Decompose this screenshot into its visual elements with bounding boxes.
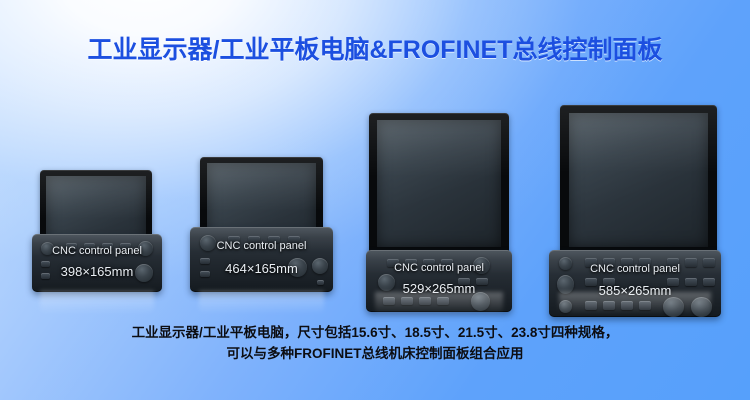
panel-knob-2b[interactable] xyxy=(288,258,307,277)
panel-button-4i[interactable] xyxy=(603,278,615,286)
panel-button-1d[interactable] xyxy=(120,243,131,250)
panel-button-2b[interactable] xyxy=(248,236,260,243)
footer-line-2: 可以与多种FROFINET总线机床控制面板组合应用 xyxy=(0,343,750,364)
device-card-1[interactable]: CNC control panel 398×165mm xyxy=(32,170,162,292)
monitor-bezel-3 xyxy=(369,113,509,256)
monitor-screen-3 xyxy=(377,120,501,247)
panel-button-2g[interactable] xyxy=(317,280,324,285)
panel-button-3f[interactable] xyxy=(476,278,488,285)
panel-button-3d[interactable] xyxy=(441,259,453,267)
panel-button-1a[interactable] xyxy=(66,243,77,250)
panel-button-4e[interactable] xyxy=(667,258,679,267)
control-panel-1[interactable]: CNC control panel 398×165mm xyxy=(32,234,162,292)
device-reflection-2 xyxy=(199,291,325,313)
panel-knob-1c[interactable] xyxy=(135,264,153,282)
product-banner: 工业显示器/工业平板电脑&FROFINET总线控制面板 CNC control … xyxy=(0,0,750,400)
panel-button-3a[interactable] xyxy=(387,259,399,267)
panel-knob-4a[interactable] xyxy=(559,257,572,270)
device-card-3[interactable]: CNC control panel 529×265mm xyxy=(366,113,512,293)
panel-button-1f[interactable] xyxy=(41,273,50,279)
monitor-screen-4 xyxy=(569,113,708,247)
panel-knob-2a[interactable] xyxy=(200,235,216,251)
panel-button-2f[interactable] xyxy=(200,271,210,277)
device-reflection-1 xyxy=(40,291,154,313)
panel-button-1b[interactable] xyxy=(84,243,95,250)
device-reflection-4 xyxy=(559,292,710,314)
panel-button-2e[interactable] xyxy=(200,258,210,264)
control-panel-2[interactable]: CNC control panel 464×165mm xyxy=(190,227,333,292)
panel-button-3c[interactable] xyxy=(423,259,435,267)
footer-description: 工业显示器/工业平板电脑，尺寸包括15.6寸、18.5寸、21.5寸、23.8寸… xyxy=(0,322,750,364)
panel-button-4j[interactable] xyxy=(667,278,679,286)
panel-knob-3a[interactable] xyxy=(473,257,490,274)
panel-button-2a[interactable] xyxy=(228,236,240,243)
panel-button-4f[interactable] xyxy=(685,258,697,267)
panel-button-4a[interactable] xyxy=(585,258,597,267)
device-reflection-3 xyxy=(375,292,503,314)
panel-button-1e[interactable] xyxy=(41,261,50,267)
panel-button-2c[interactable] xyxy=(268,236,280,243)
device-card-2[interactable]: CNC control panel 464×165mm xyxy=(190,157,333,292)
panel-button-4d[interactable] xyxy=(639,258,651,267)
panel-button-3e[interactable] xyxy=(458,278,470,285)
footer-line-1: 工业显示器/工业平板电脑，尺寸包括15.6寸、18.5寸、21.5寸、23.8寸… xyxy=(0,322,750,343)
device-card-4[interactable]: CNC control panel 585×265mm xyxy=(549,105,721,293)
panel-button-3b[interactable] xyxy=(405,259,417,267)
monitor-bezel-4 xyxy=(560,105,717,257)
panel-button-1c[interactable] xyxy=(102,243,113,250)
panel-button-2d[interactable] xyxy=(288,236,300,243)
panel-button-4l[interactable] xyxy=(703,278,715,286)
device-lineup: CNC control panel 398×165mm xyxy=(0,0,750,320)
panel-knob-1a[interactable] xyxy=(41,242,54,255)
panel-knob-2c[interactable] xyxy=(312,258,328,274)
panel-button-4g[interactable] xyxy=(703,258,715,267)
panel-knob-1b[interactable] xyxy=(138,241,153,256)
panel-button-4h[interactable] xyxy=(585,278,597,286)
panel-knob-3b[interactable] xyxy=(378,274,395,291)
panel-button-4k[interactable] xyxy=(685,278,697,286)
panel-button-4c[interactable] xyxy=(621,258,633,267)
panel-button-4b[interactable] xyxy=(603,258,615,267)
